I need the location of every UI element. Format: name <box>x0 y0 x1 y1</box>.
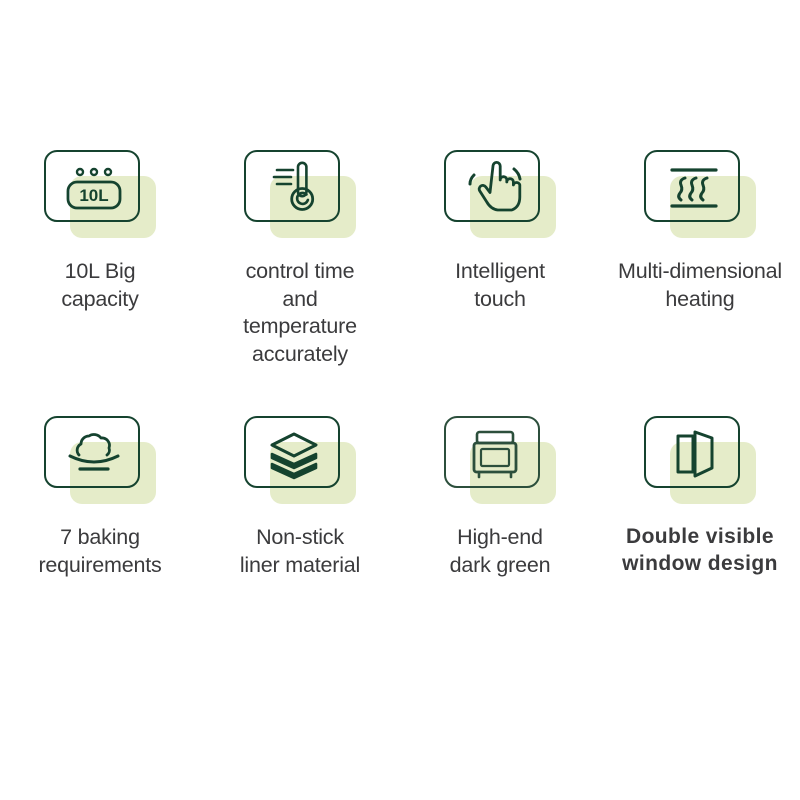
oven-unit-icon <box>446 418 542 490</box>
baking-cloud-icon <box>46 418 142 490</box>
icon-tile-wrap <box>444 416 556 506</box>
feature-card-touch[interactable]: Intelligent touch <box>400 150 600 368</box>
feature-label: High-end dark green <box>450 524 551 579</box>
icon-capacity-label: 10L <box>79 186 108 205</box>
icon-tile: 10L <box>44 150 140 222</box>
heat-waves-icon <box>646 152 742 224</box>
feature-label: Non-stick liner material <box>240 524 360 579</box>
feature-card-window[interactable]: Double visible window design <box>600 416 800 579</box>
icon-tile-wrap <box>644 150 756 240</box>
touch-hand-icon <box>446 152 542 224</box>
thermometer-timer-icon <box>246 152 342 224</box>
icon-tile-wrap <box>44 416 156 506</box>
feature-label: control time and temperature accurately <box>243 258 357 368</box>
icon-tile-wrap <box>444 150 556 240</box>
icon-tile-wrap <box>244 416 356 506</box>
feature-label: Double visible window design <box>622 524 778 578</box>
icon-tile-wrap <box>244 150 356 240</box>
oven-capacity-icon: 10L <box>46 152 142 224</box>
feature-card-capacity[interactable]: 10L 10L Big capacity <box>0 150 200 368</box>
feature-card-nonstick[interactable]: Non-stick liner material <box>200 416 400 579</box>
icon-tile-wrap: 10L <box>44 150 156 240</box>
feature-label: Multi-dimensional heating <box>618 258 782 313</box>
feature-highlights-board: 10L 10L Big capacity <box>0 0 800 800</box>
feature-card-baking[interactable]: 7 baking requirements <box>0 416 200 579</box>
feature-card-temperature[interactable]: control time and temperature accurately <box>200 150 400 368</box>
layers-stack-icon <box>246 418 342 490</box>
feature-label: Intelligent touch <box>455 258 545 313</box>
feature-card-heating[interactable]: Multi-dimensional heating <box>600 150 800 368</box>
icon-tile <box>444 416 540 488</box>
icon-tile <box>644 416 740 488</box>
feature-card-darkgreen[interactable]: High-end dark green <box>400 416 600 579</box>
icon-tile <box>44 416 140 488</box>
icon-tile <box>644 150 740 222</box>
icon-tile <box>244 150 340 222</box>
icon-tile <box>244 416 340 488</box>
double-window-icon <box>646 418 742 490</box>
icon-tile-wrap <box>644 416 756 506</box>
feature-label: 10L Big capacity <box>61 258 138 313</box>
feature-label: 7 baking requirements <box>38 524 161 579</box>
icon-tile <box>444 150 540 222</box>
feature-grid: 10L 10L Big capacity <box>0 150 800 579</box>
